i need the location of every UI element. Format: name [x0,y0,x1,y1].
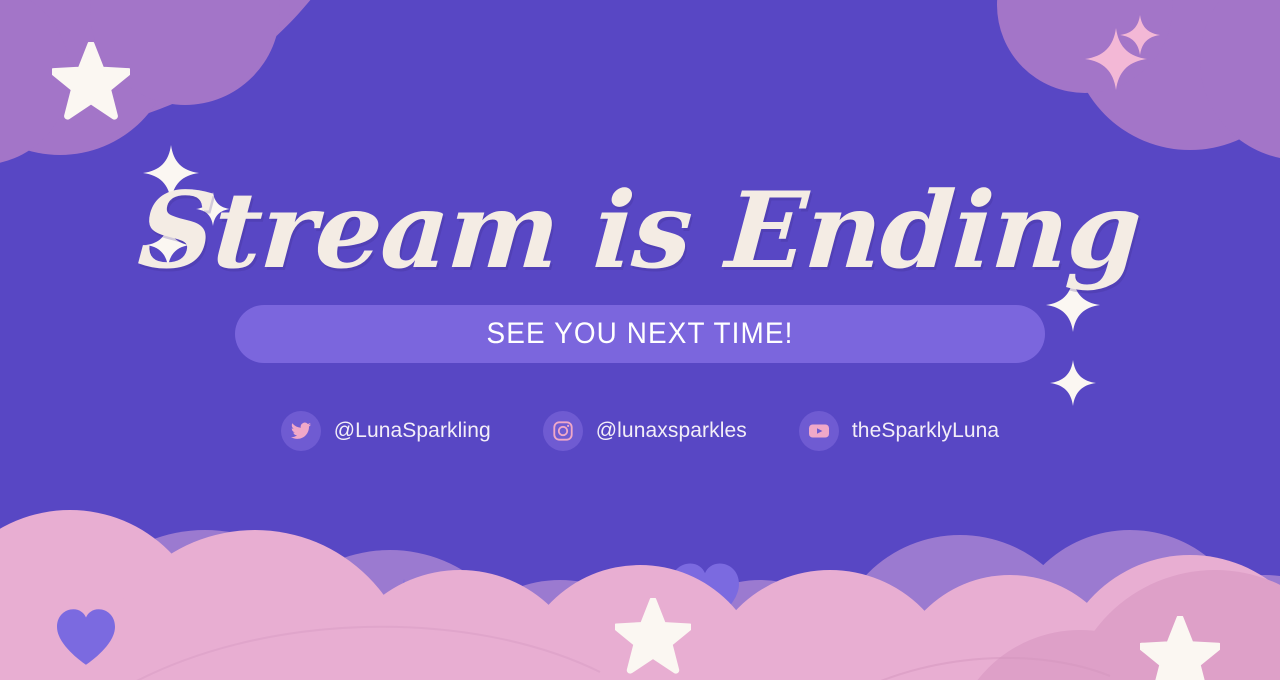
stream-ending-overlay: Stream is Ending SEE YOU NEXT TIME! @Lun… [0,0,1280,680]
foreground-cloud-layer [0,0,1280,680]
